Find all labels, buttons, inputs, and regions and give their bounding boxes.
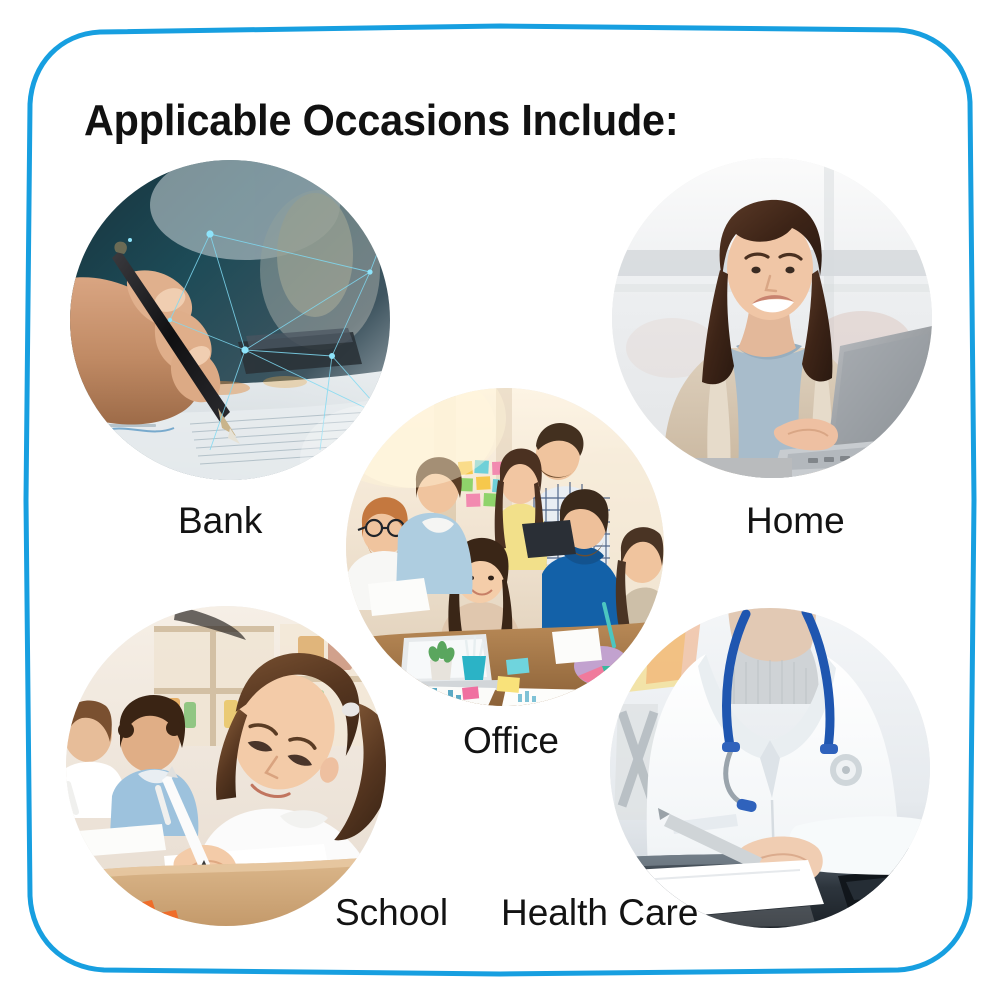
occasion-label-home: Home [746,502,845,539]
occasion-label-school: School [335,894,448,931]
occasion-photo-school [66,606,386,926]
occasion-photo-office [346,388,664,706]
occasion-photo-home [612,158,932,478]
occasion-label-healthcare: Health Care [501,894,698,931]
occasion-photo-bank [70,160,390,480]
occasion-photo-healthcare [610,608,930,928]
page-title: Applicable Occasions Include: [84,96,678,146]
poster-canvas: Applicable Occasions Include: [0,0,1000,1000]
occasion-label-bank: Bank [178,502,262,539]
occasion-label-office: Office [463,722,559,759]
